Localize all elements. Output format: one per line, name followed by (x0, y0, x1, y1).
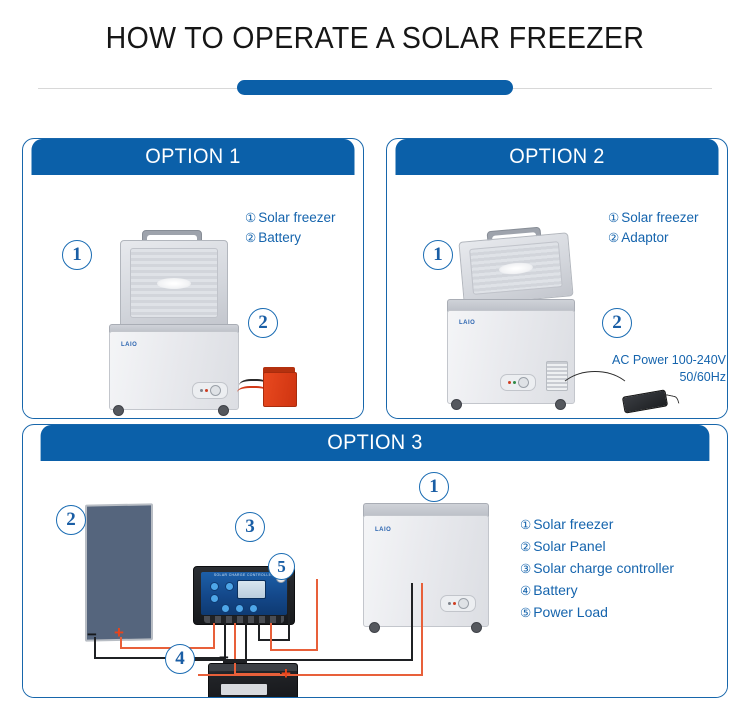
panel-knob[interactable] (518, 377, 529, 388)
ac-power-line-2: 50/60Hz (590, 369, 726, 386)
panel-indicator-dot (513, 381, 516, 384)
freezer-control-panel[interactable] (440, 595, 476, 612)
legend-number: ④ (520, 584, 531, 598)
legend-item: ②Solar Panel (520, 536, 674, 558)
wire-panel-positive-to-controller (213, 623, 215, 649)
badge-option3-power-load: 5 (268, 553, 295, 580)
legend-label: Solar charge controller (533, 560, 674, 576)
sign-battery-minus: − (219, 649, 229, 666)
battery-red-case (263, 372, 297, 407)
card-header-option-3: OPTION 3 (41, 425, 710, 461)
wire-battery-to-freezer-red (198, 674, 423, 676)
legend-item: ①Solar freezer (245, 208, 336, 228)
legend-item: ②Adaptor (608, 228, 699, 248)
page-title: HOW TO OPERATE A SOLAR FREEZER (30, 20, 720, 56)
panel-knob[interactable] (458, 598, 469, 609)
freezer-caster-wheel (471, 622, 482, 633)
legend-number: ③ (520, 562, 531, 576)
legend-label: Solar freezer (258, 210, 335, 225)
wire-battery-negative-from-controller (245, 623, 247, 663)
freezer-caster-wheel (218, 405, 229, 416)
legend-number: ① (520, 518, 531, 532)
legend-item: ②Battery (245, 228, 336, 248)
legend-label: Solar Panel (533, 538, 605, 554)
legend-label: Solar freezer (533, 516, 613, 532)
badge-option1-freezer: 1 (62, 240, 92, 270)
freezer-open-lid (458, 232, 573, 305)
panel-indicator-dot (448, 602, 451, 605)
wire-battery-to-freezer-black (183, 659, 413, 661)
legend-number: ② (520, 540, 531, 554)
freezer-caster-wheel (113, 405, 124, 416)
controller-button[interactable] (235, 604, 244, 613)
legend-item: ⑤Power Load (520, 602, 674, 624)
controller-button[interactable] (210, 594, 219, 603)
freezer-open-lid (120, 240, 228, 328)
wire-freezer-red-riser (421, 583, 423, 674)
wire-load-negative-up (288, 581, 290, 639)
badge-option2-freezer: 1 (423, 240, 453, 270)
badge-option2-adaptor: 2 (602, 308, 632, 338)
ac-power-note: AC Power 100-240V 50/60Hz (590, 352, 726, 386)
legend-option-3: ①Solar freezer ②Solar Panel ③Solar charg… (520, 514, 674, 624)
legend-item: ①Solar freezer (608, 208, 699, 228)
brand-logo: LAIO (459, 320, 475, 326)
freezer-control-panel[interactable] (500, 374, 536, 391)
freezer-illustration-option-3: LAIO (361, 503, 491, 663)
brand-logo: LAIO (375, 527, 391, 533)
battery-illustration-option-1 (241, 363, 301, 413)
panel-indicator-dot (508, 381, 511, 384)
legend-label: Solar freezer (621, 210, 698, 225)
freezer-caster-wheel (369, 622, 380, 633)
legend-option-1: ①Solar freezer ②Battery (245, 208, 336, 248)
wire-load-negative-horizontal (258, 639, 290, 641)
title-accent-bar (237, 80, 513, 95)
legend-item: ①Solar freezer (520, 514, 674, 536)
wire-freezer-black-riser (411, 583, 413, 659)
wire-load-positive-vertical (270, 623, 272, 651)
wire-load-positive-up (316, 579, 318, 649)
panel-knob[interactable] (210, 385, 221, 396)
legend-number: ② (245, 231, 256, 245)
legend-option-2: ①Solar freezer ②Adaptor (608, 208, 699, 248)
freezer-control-panel[interactable] (192, 382, 228, 399)
controller-lcd-screen (237, 580, 266, 599)
legend-label: Battery (258, 230, 301, 245)
controller-faceplate: SOLAR CHARGE CONTROLLER (201, 572, 287, 615)
card-header-option-2: OPTION 2 (396, 139, 719, 175)
controller-button[interactable] (210, 582, 219, 591)
sign-battery-plus: + (281, 665, 291, 682)
legend-label: Adaptor (621, 230, 668, 245)
card-option-1[interactable]: OPTION 1 LAIO (22, 138, 364, 419)
panel-indicator-dot (200, 389, 203, 392)
battery-label (221, 684, 267, 695)
sign-panel-plus: + (114, 624, 124, 641)
wire-battery-positive-from-controller (234, 623, 236, 675)
badge-option3-solar-panel: 2 (56, 505, 86, 535)
badge-option3-freezer: 1 (419, 472, 449, 502)
ac-power-line-1: AC Power 100-240V (590, 352, 726, 369)
panel-indicator-dot (205, 389, 208, 392)
solar-panel (85, 503, 153, 641)
freezer-illustration-option-1: LAIO (98, 230, 248, 410)
badge-option3-battery: 4 (165, 644, 195, 674)
wire-load-positive-horizontal (270, 649, 318, 651)
controller-button[interactable] (249, 604, 258, 613)
sign-panel-minus: − (87, 626, 97, 643)
lid-light-reflection (157, 278, 191, 289)
controller-button[interactable] (221, 604, 230, 613)
freezer-cabinet: LAIO (109, 331, 239, 410)
badge-option1-battery: 2 (248, 308, 278, 338)
badge-option3-charge-controller: 3 (235, 512, 265, 542)
controller-button[interactable] (225, 582, 234, 591)
legend-item: ③Solar charge controller (520, 558, 674, 580)
legend-item: ④Battery (520, 580, 674, 602)
card-header-option-1: OPTION 1 (32, 139, 355, 175)
legend-number: ② (608, 231, 619, 245)
legend-number: ① (245, 211, 256, 225)
legend-label: Power Load (533, 604, 608, 620)
freezer-caster-wheel (451, 399, 462, 410)
freezer-cabinet: LAIO (363, 515, 489, 627)
controller-terminal-strip (204, 616, 284, 623)
legend-number: ⑤ (520, 606, 531, 620)
brand-logo: LAIO (121, 342, 137, 348)
legend-number: ① (608, 211, 619, 225)
panel-indicator-dot (453, 602, 456, 605)
legend-label: Battery (533, 582, 577, 598)
